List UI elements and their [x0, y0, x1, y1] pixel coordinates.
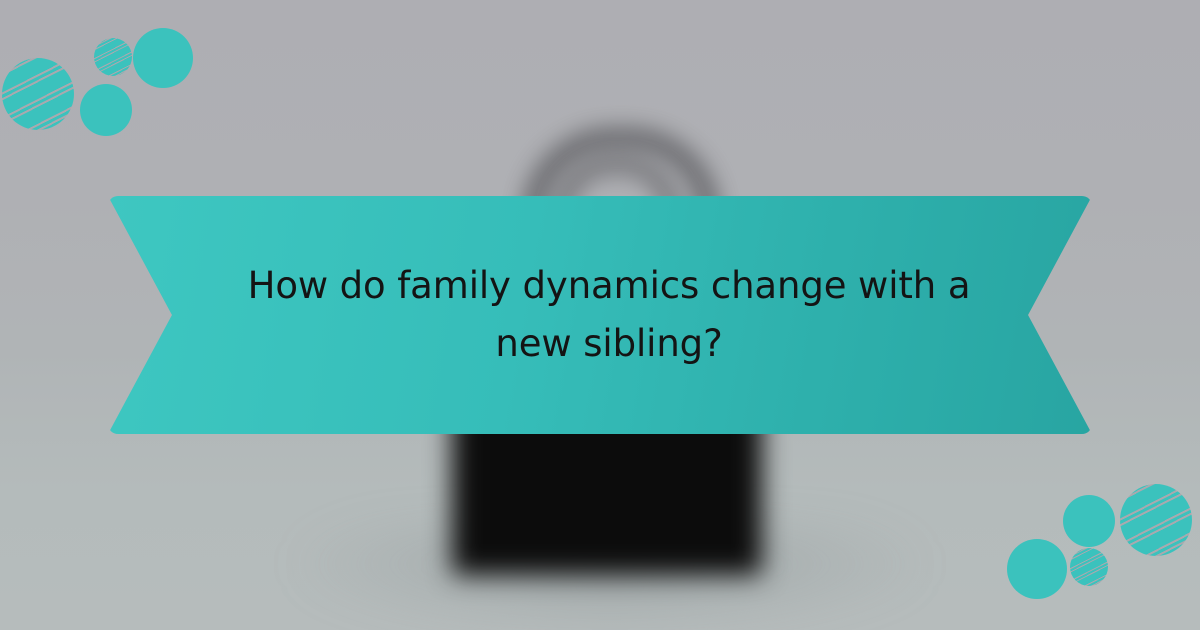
decorative-circle-medium-solid-top-left [80, 84, 132, 136]
question-text: How do family dynamics change with a new… [211, 257, 989, 374]
question-banner: How do family dynamics change with a new… [108, 196, 1092, 434]
decorative-circle-large-solid-top-left [133, 28, 193, 88]
decorative-circle-small-striped-bottom-right [1070, 548, 1108, 586]
decorative-circle-large-solid-bottom-right [1007, 539, 1067, 599]
decorative-circle-small-striped-top-left [94, 38, 132, 76]
decorative-circle-large-striped-bottom-right [1120, 484, 1192, 556]
decorative-circle-medium-solid-bottom-right [1063, 495, 1115, 547]
decorative-circle-large-striped-top-left [2, 58, 74, 130]
poster-canvas: How do family dynamics change with a new… [0, 0, 1200, 630]
